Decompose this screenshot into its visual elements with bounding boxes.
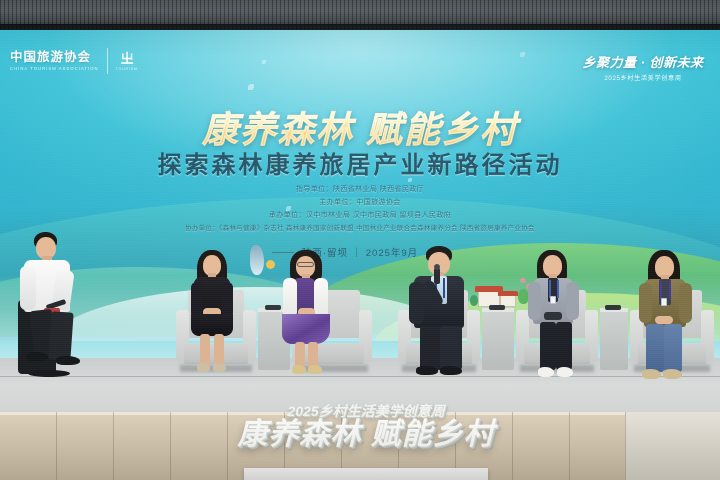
glasses-icon: [297, 262, 314, 267]
association-name-en: CHINA TOURISM ASSOCIATION: [10, 66, 99, 71]
lanyard-left: [660, 281, 662, 299]
place-date-line: 陕西·留坝 ｜ 2025年9月: [0, 245, 720, 259]
arm-left: [528, 282, 541, 320]
credit-line-organizer: 承办单位：汉中市林业局 汉中市民政局 留坝县人民政府: [0, 210, 720, 223]
prop-top-line: 2025乡村生活美学创意周: [232, 404, 500, 418]
jacket-arm-left: [283, 278, 297, 318]
arm-right: [222, 282, 233, 318]
jacket-arm-right: [314, 278, 328, 318]
credit-line-host: 主办单位：中国旅游协会: [0, 197, 720, 210]
credit-line-guidance: 指导单位：陕西省林业局 陕西省民政厅: [0, 184, 720, 197]
arm-right: [679, 283, 692, 323]
lanyard-right: [557, 280, 559, 298]
arm-left: [639, 283, 652, 323]
floor-seam: [0, 376, 720, 377]
purple-skirt: [282, 314, 330, 344]
shoe-left: [416, 366, 438, 375]
leg-right: [440, 326, 462, 370]
lanyard-right: [669, 281, 671, 299]
person-moderator: [8, 232, 98, 384]
petal-decor: [520, 52, 525, 57]
event-slogan: 乡聚力量 · 创新未来: [578, 52, 708, 71]
hands: [655, 316, 673, 324]
shoe-left: [197, 363, 210, 372]
sub-title: 探索森林康养旅居产业新路径活动: [0, 145, 720, 180]
shoe-right: [308, 365, 322, 374]
organizer-credits: 指导单位：陕西省林业局 陕西省民政厅 主办单位：中国旅游协会 承办单位：汉中市林…: [0, 184, 720, 235]
shoe-left: [642, 369, 661, 379]
person-speaker-with-mic: [404, 246, 482, 392]
microphone-head: [434, 264, 440, 270]
leg-right: [214, 334, 224, 366]
prop-big-line: 康养森林 赋能乡村: [232, 419, 500, 451]
arm-left: [20, 266, 36, 310]
leg-left: [420, 326, 442, 370]
person-panelist-purple-dress: [278, 250, 350, 390]
phone-in-hands: [544, 312, 562, 320]
name-badge: [550, 296, 556, 304]
credit-line-coorganizer: 协办单位：《森林与健康》杂志社 森林康养国家创新联盟 中国林业产业联合会森林康养…: [0, 223, 720, 235]
shoe-right: [56, 356, 80, 365]
association-mark-sub: TOURISM: [116, 67, 138, 71]
stage-photo: 中国旅游协会 CHINA TOURISM ASSOCIATION 㞢 TOURI…: [0, 0, 720, 480]
leg-right: [556, 322, 572, 370]
shoe-left: [26, 352, 48, 361]
leg-left: [200, 334, 210, 366]
side-table-3: [600, 308, 628, 370]
arm-right: [566, 282, 579, 320]
petal-decor: [248, 84, 254, 90]
jeans-leg-left: [646, 324, 664, 372]
prop-base: [244, 468, 488, 480]
jeans-leg-right: [664, 324, 682, 372]
person-panelist-grey-blazer: [524, 250, 594, 390]
shoe-right: [663, 369, 682, 379]
petal-decor: [262, 60, 266, 64]
shoe-left: [292, 365, 306, 374]
shoe-right: [213, 363, 226, 372]
side-table-2: [482, 308, 514, 370]
name-badge: [661, 298, 667, 306]
skirt: [191, 314, 233, 336]
microphone-on-table: [605, 305, 621, 310]
lanyard-right: [443, 278, 445, 298]
leg-left: [540, 322, 556, 370]
microphone-held: [434, 268, 440, 284]
shoe-right: [440, 366, 462, 375]
association-mark: 㞢 TOURISM: [116, 52, 138, 71]
person-panelist-olive-jacket: [636, 250, 708, 392]
event-slogan-logo: 乡聚力量 · 创新未来 2025乡村生活美学创意周: [578, 52, 708, 82]
shoe-left: [538, 367, 554, 377]
china-tourism-association-logo: 中国旅游协会 CHINA TOURISM ASSOCIATION 㞢 TOURI…: [10, 48, 138, 74]
sun-motif: [266, 260, 275, 269]
stage-front-wall-right-panel: [625, 412, 720, 480]
event-week-name: 2025乡村生活美学创意周: [578, 73, 708, 82]
stage-letter-prop: 2025乡村生活美学创意周 康养森林 赋能乡村: [232, 404, 500, 476]
shoe-right: [557, 367, 573, 377]
logo-divider: [107, 48, 108, 74]
arm-left: [191, 282, 202, 318]
microphone-on-table: [489, 305, 505, 310]
association-mark-glyph: 㞢: [116, 52, 138, 65]
person-panelist-black-dress: [186, 250, 252, 388]
leg-right: [48, 311, 73, 360]
association-name-cn: 中国旅游协会: [10, 51, 99, 65]
